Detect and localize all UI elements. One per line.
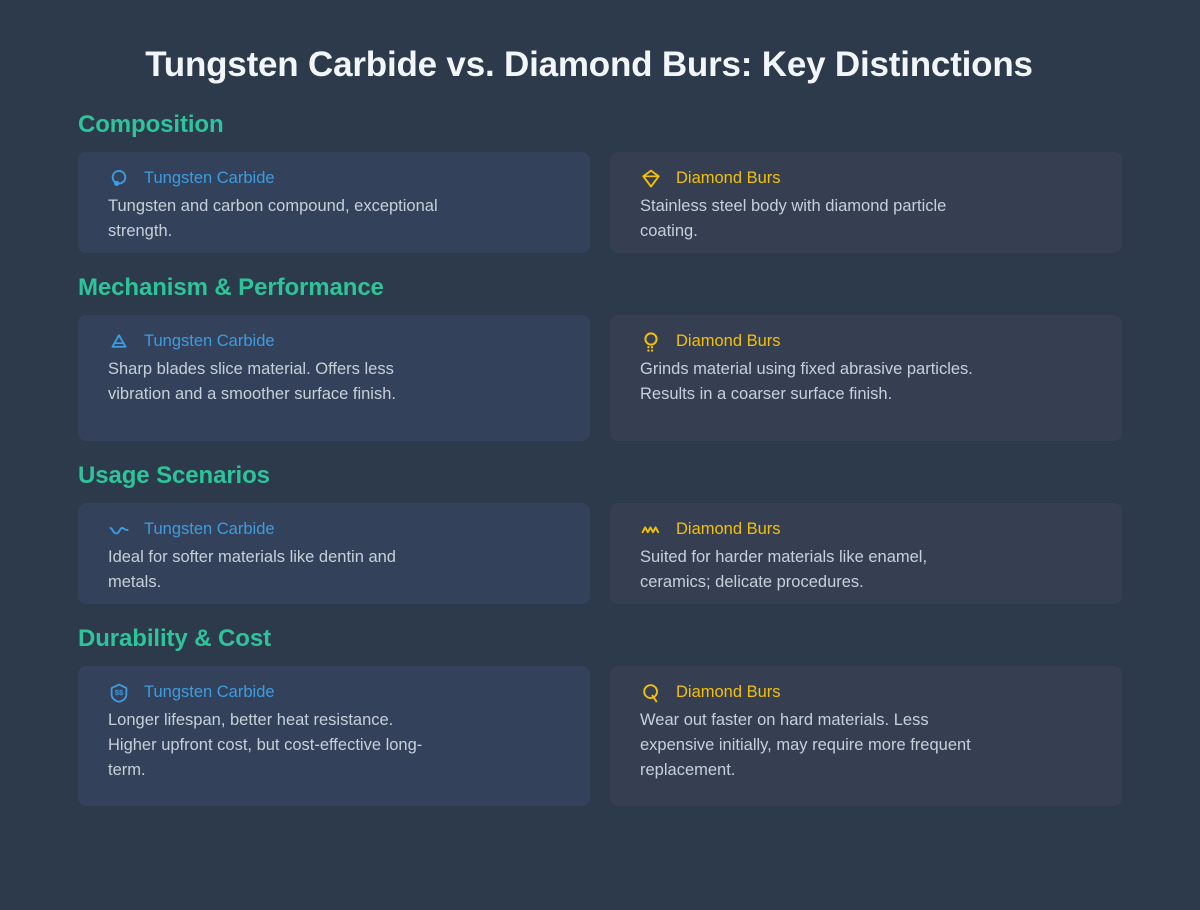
card-carbide-usage[interactable]: Tungsten Carbide Ideal for softer materi… <box>78 503 590 604</box>
card-header: Diamond Burs <box>640 167 1104 189</box>
card-header: Diamond Burs <box>640 518 1104 540</box>
card-header: Tungsten Carbide <box>108 518 572 540</box>
card-carbide-mechanism[interactable]: Tungsten Carbide Sharp blades slice mate… <box>78 315 590 441</box>
card-label: Tungsten Carbide <box>144 519 275 539</box>
card-body: Longer lifespan, better heat resistance.… <box>108 708 438 783</box>
card-label: Tungsten Carbide <box>144 168 275 188</box>
card-diamond-usage[interactable]: Diamond Burs Suited for harder materials… <box>610 503 1122 604</box>
card-header: $$ Tungsten Carbide <box>108 681 572 703</box>
section-composition: Composition Tungsten Carbide Tungsten an… <box>78 111 1122 253</box>
blade-triangle-icon <box>108 331 130 353</box>
card-body: Tungsten and carbon compound, exceptiona… <box>108 194 438 244</box>
section-mechanism-performance: Mechanism & Performance Tungsten Carbide… <box>78 274 1122 441</box>
card-body: Wear out faster on hard materials. Less … <box>640 708 990 783</box>
card-body: Sharp blades slice material. Offers less… <box>108 357 438 407</box>
comparison-sections: Composition Tungsten Carbide Tungsten an… <box>78 111 1122 806</box>
card-diamond-composition[interactable]: Diamond Burs Stainless steel body with d… <box>610 152 1122 253</box>
card-body: Stainless steel body with diamond partic… <box>640 194 990 244</box>
gem-icon <box>640 168 662 190</box>
card-label: Diamond Burs <box>676 168 781 188</box>
page-title: Tungsten Carbide vs. Diamond Burs: Key D… <box>78 0 1122 87</box>
card-row: Tungsten Carbide Ideal for softer materi… <box>78 503 1122 604</box>
section-usage-scenarios: Usage Scenarios Tungsten Carbide Ideal f… <box>78 462 1122 604</box>
smooth-wave-icon <box>108 519 130 541</box>
card-body: Ideal for softer materials like dentin a… <box>108 545 438 595</box>
card-header: Tungsten Carbide <box>108 330 572 352</box>
section-durability-cost: Durability & Cost $$ Tungsten Carbide Lo… <box>78 625 1122 806</box>
card-label: Tungsten Carbide <box>144 331 275 351</box>
card-diamond-durability[interactable]: Diamond Burs Wear out faster on hard mat… <box>610 666 1122 806</box>
card-label: Diamond Burs <box>676 331 781 351</box>
card-row: Tungsten Carbide Sharp blades slice mate… <box>78 315 1122 441</box>
card-carbide-durability[interactable]: $$ Tungsten Carbide Longer lifespan, bet… <box>78 666 590 806</box>
worn-bur-icon <box>640 682 662 704</box>
abrasive-particles-icon <box>640 331 662 353</box>
card-header: Diamond Burs <box>640 330 1104 352</box>
section-heading: Usage Scenarios <box>78 462 1122 490</box>
section-heading: Composition <box>78 111 1122 139</box>
zigzag-wave-icon <box>640 519 662 541</box>
card-body: Grinds material using fixed abrasive par… <box>640 357 990 407</box>
section-heading: Mechanism & Performance <box>78 274 1122 302</box>
lightbulb-icon <box>108 168 130 190</box>
card-label: Tungsten Carbide <box>144 682 275 702</box>
section-heading: Durability & Cost <box>78 625 1122 653</box>
infographic-page: Tungsten Carbide vs. Diamond Burs: Key D… <box>0 0 1200 910</box>
card-diamond-mechanism[interactable]: Diamond Burs Grinds material using fixed… <box>610 315 1122 441</box>
card-label: Diamond Burs <box>676 519 781 539</box>
card-carbide-composition[interactable]: Tungsten Carbide Tungsten and carbon com… <box>78 152 590 253</box>
svg-text:$$: $$ <box>115 688 123 697</box>
shield-badge-icon: $$ <box>108 682 130 704</box>
card-row: $$ Tungsten Carbide Longer lifespan, bet… <box>78 666 1122 806</box>
card-body: Suited for harder materials like enamel,… <box>640 545 990 595</box>
card-row: Tungsten Carbide Tungsten and carbon com… <box>78 152 1122 253</box>
card-header: Tungsten Carbide <box>108 167 572 189</box>
card-label: Diamond Burs <box>676 682 781 702</box>
card-header: Diamond Burs <box>640 681 1104 703</box>
